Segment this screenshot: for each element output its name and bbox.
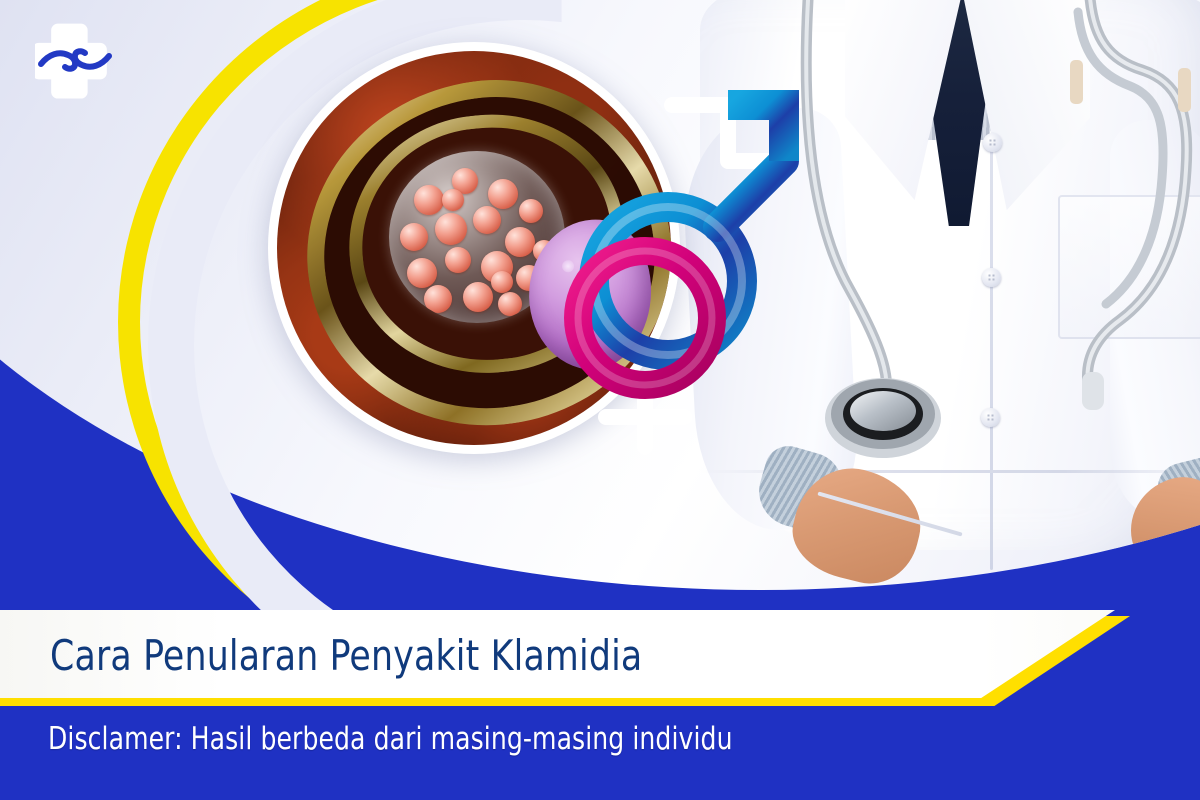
male-gender-symbol xyxy=(594,105,784,355)
hero-section xyxy=(0,0,1200,610)
page-title: Cara Penularan Penyakit Klamidia xyxy=(50,625,933,685)
poster-canvas: Cara Penularan Penyakit Klamidia Disclam… xyxy=(0,0,1200,800)
site-logo[interactable] xyxy=(35,20,115,100)
gender-symbols-graphic xyxy=(540,75,840,455)
medical-cross-caring-hands-icon xyxy=(35,20,115,100)
disclaimer-text: Disclamer: Hasil berbeda dari masing-mas… xyxy=(48,716,1038,762)
